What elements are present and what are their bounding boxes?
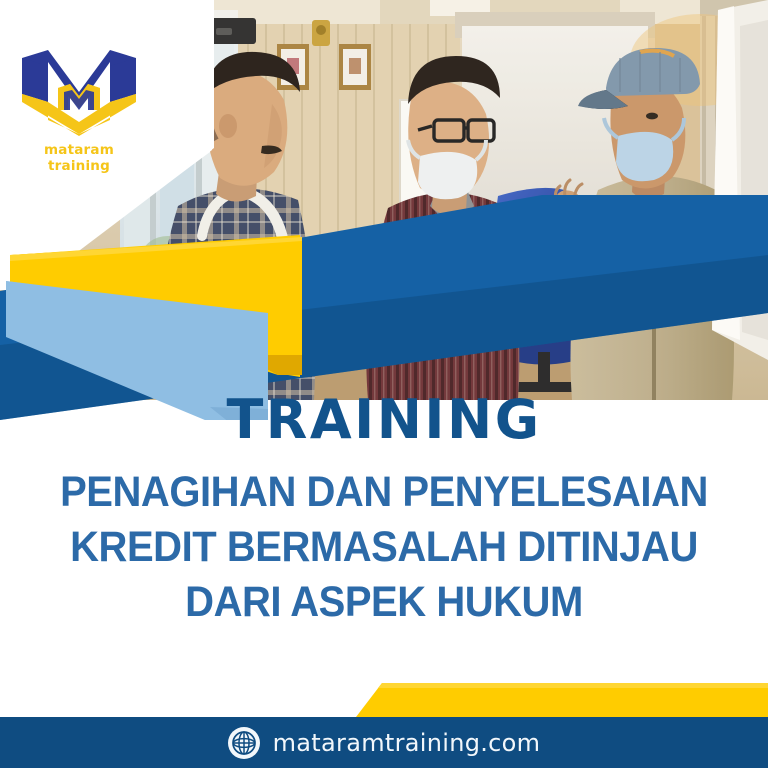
logo-wordmark: mataram training [14, 142, 144, 174]
subtitle-line-3: DARI ASPEK HUKUM [27, 575, 741, 630]
headline-block: TRAINING PENAGIHAN DAN PENYELESAIAN KRED… [0, 392, 768, 630]
subtitle-line-2: KREDIT BERMASALAH DITINJAU [27, 520, 741, 575]
page-subtitle: PENAGIHAN DAN PENYELESAIAN KREDIT BERMAS… [0, 465, 768, 630]
footer-bar: mataramtraining.com [0, 717, 768, 768]
subtitle-line-1: PENAGIHAN DAN PENYELESAIAN [27, 465, 741, 520]
mataram-m-logo-icon: mataram training [14, 44, 144, 164]
footer-accent-bar [0, 683, 768, 717]
page-title-kicker: TRAINING [0, 392, 768, 449]
globe-icon [228, 727, 260, 759]
website-url[interactable]: mataramtraining.com [273, 729, 541, 757]
poster-canvas: mataram training TRAINING PENAGIHAN DAN … [0, 0, 768, 768]
